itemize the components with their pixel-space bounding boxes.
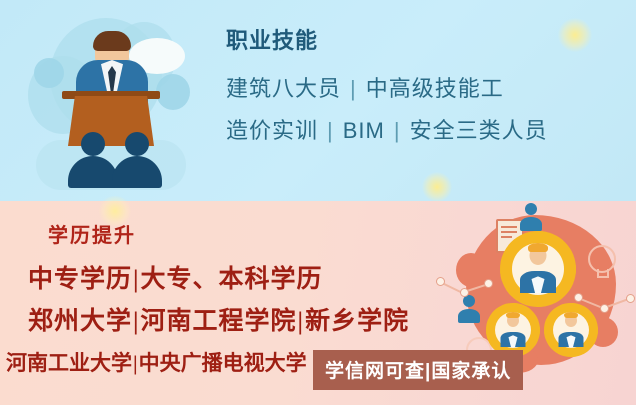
skill-item-bim[interactable]: BIM bbox=[343, 118, 385, 143]
degree-item-benke[interactable]: 大专、本科学历 bbox=[141, 266, 323, 293]
vocational-skills-title: 职业技能 bbox=[226, 28, 626, 54]
vocational-skills-panel[interactable]: 职业技能 建筑八大员|中高级技能工 造价实训|BIM|安全三类人员 bbox=[0, 0, 636, 201]
separator-icon: | bbox=[385, 118, 410, 143]
separator-icon: | bbox=[132, 351, 139, 375]
separator-icon: | bbox=[297, 308, 306, 335]
school-item-henan-gongye[interactable]: 河南工业大学 bbox=[6, 351, 132, 375]
skill-item-jinengong[interactable]: 中高级技能工 bbox=[366, 76, 504, 101]
user-icon bbox=[520, 203, 542, 231]
separator-icon: | bbox=[132, 308, 141, 335]
skill-item-anquan[interactable]: 安全三类人员 bbox=[410, 118, 548, 143]
school-item-henan-gongcheng[interactable]: 河南工程学院 bbox=[141, 308, 297, 335]
gear-avatar-main bbox=[500, 231, 576, 307]
skill-item-jianzhu[interactable]: 建筑八大员 bbox=[226, 76, 341, 101]
school-item-zhengzhou[interactable]: 郑州大学 bbox=[28, 308, 132, 335]
audience-front-row bbox=[54, 130, 174, 188]
degree-item-zhongzhuan[interactable]: 中专学历 bbox=[28, 266, 132, 293]
vocational-skills-text-block: 职业技能 建筑八大员|中高级技能工 造价实训|BIM|安全三类人员 bbox=[226, 28, 626, 152]
separator-icon: | bbox=[341, 76, 366, 101]
school-item-xinxiang[interactable]: 新乡学院 bbox=[305, 308, 409, 335]
vocational-skills-line-2: 造价实训|BIM|安全三类人员 bbox=[226, 110, 626, 152]
separator-icon: | bbox=[132, 266, 141, 293]
separator-icon: | bbox=[318, 118, 343, 143]
lightbulb-icon bbox=[588, 245, 616, 273]
education-line-1: 中专学历|大专、本科学历 bbox=[28, 259, 323, 295]
education-line-2: 郑州大学|河南工程学院|新乡学院 bbox=[28, 301, 409, 337]
vocational-skills-line-1: 建筑八大员|中高级技能工 bbox=[226, 68, 626, 110]
sparkle-icon bbox=[422, 172, 452, 201]
speaker-podium-illustration bbox=[16, 12, 206, 190]
gear-avatar-left bbox=[486, 303, 540, 357]
gear-avatar-right bbox=[544, 303, 598, 357]
education-line-3: 河南工业大学|中央广播电视大学 bbox=[6, 347, 307, 377]
sparkle-icon bbox=[98, 196, 132, 226]
promo-banner: 职业技能 建筑八大员|中高级技能工 造价实训|BIM|安全三类人员 bbox=[0, 0, 636, 405]
school-item-dianda[interactable]: 中央广播电视大学 bbox=[139, 351, 307, 375]
skill-item-zaojia[interactable]: 造价实训 bbox=[226, 118, 318, 143]
speaker-hair bbox=[93, 31, 131, 51]
verification-badge[interactable]: 学信网可查|国家承认 bbox=[313, 350, 523, 390]
